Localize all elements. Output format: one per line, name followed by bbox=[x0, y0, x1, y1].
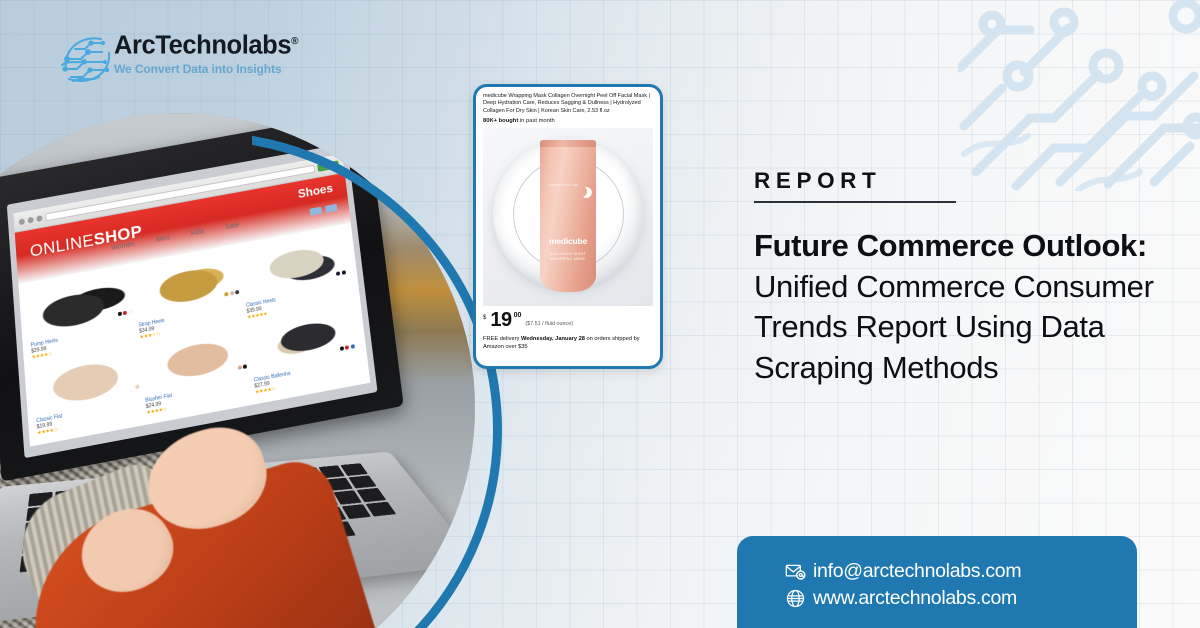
price-decimal: 00 bbox=[514, 312, 522, 319]
headline-rest: Unified Commerce Consumer Trends Report … bbox=[754, 269, 1154, 385]
report-banner: ArcTechnolabs® We Convert Data into Insi… bbox=[0, 0, 1200, 628]
brand-tagline: We Convert Data into Insights bbox=[114, 62, 304, 77]
sort-option[interactable] bbox=[325, 204, 337, 213]
shop-nav-item[interactable]: Kids bbox=[191, 228, 205, 237]
product-detail-card: medicube Wrapping Mask Collagen Overnigh… bbox=[473, 84, 663, 369]
brand-text: ArcTechnolabs® We Convert Data into Insi… bbox=[114, 27, 304, 77]
laptop-lid: ONLINESHOP Shoes Women Men Kids Sale bbox=[0, 113, 404, 482]
globe-icon bbox=[785, 588, 806, 609]
tube-micro-text: FOR NIGHT SKIN CARE bbox=[549, 184, 578, 188]
browser-forward-icon bbox=[27, 216, 33, 223]
screen-bezel: ONLINESHOP Shoes Women Men Kids Sale bbox=[7, 143, 378, 458]
laptop-screen: ONLINESHOP Shoes Women Men Kids Sale bbox=[13, 154, 370, 447]
price-integer: 19 bbox=[490, 311, 511, 330]
contact-email-row[interactable]: info@arctechnolabs.com bbox=[785, 558, 1137, 585]
eyebrow-block: REPORT bbox=[754, 168, 1134, 203]
tube-subtitle: COLLAGEN NIGHT WRAPPING MASK bbox=[540, 252, 596, 262]
eyebrow-divider bbox=[754, 201, 956, 203]
product-card-delivery: FREE delivery Wednesday, January 28 on o… bbox=[476, 330, 660, 351]
headline-bold: Future Commerce Outlook: bbox=[754, 228, 1147, 263]
circuit-trace-pattern-icon bbox=[958, 0, 1200, 191]
brand-logo[interactable]: ArcTechnolabs® We Convert Data into Insi… bbox=[57, 27, 302, 91]
shop-sort-controls[interactable] bbox=[310, 204, 338, 216]
contact-panel: info@arctechnolabs.com www.arctechnolabs… bbox=[737, 536, 1137, 628]
browser-back-icon bbox=[19, 218, 25, 225]
product-card-bought: 80K+ bought in past month bbox=[476, 115, 660, 124]
mask-tube: FOR NIGHT SKIN CARE medicube COLLAGEN NI… bbox=[540, 140, 596, 292]
contact-email-text[interactable]: info@arctechnolabs.com bbox=[813, 558, 1021, 585]
shop-nav-item[interactable]: Men bbox=[156, 234, 170, 243]
product-card-title: medicube Wrapping Mask Collagen Overnigh… bbox=[476, 87, 660, 115]
shop-category-title: Shoes bbox=[297, 181, 333, 201]
hero-photo: ONLINESHOP Shoes Women Men Kids Sale bbox=[0, 113, 475, 628]
shop-nav-item[interactable]: Sale bbox=[225, 222, 239, 231]
circuit-globe-icon bbox=[57, 29, 119, 89]
product-card-price: $1900 ($7.51 / fluid ounce) bbox=[476, 306, 660, 330]
trademark-symbol: ® bbox=[291, 36, 298, 47]
price-currency: $ bbox=[483, 315, 486, 321]
price-per-unit: ($7.51 / fluid ounce) bbox=[525, 321, 573, 327]
browser-secure-badge bbox=[317, 160, 339, 171]
eyebrow-label: REPORT bbox=[754, 168, 1134, 194]
color-swatches[interactable] bbox=[135, 384, 139, 389]
page-title: Future Commerce Outlook: Unified Commerc… bbox=[754, 226, 1166, 388]
contact-website-text[interactable]: www.arctechnolabs.com bbox=[813, 585, 1017, 612]
contact-website-row[interactable]: www.arctechnolabs.com bbox=[785, 585, 1137, 612]
brand-name: ArcTechnolabs® bbox=[114, 27, 304, 61]
tube-brand-label: medicube bbox=[540, 236, 596, 246]
product-card-image: FOR NIGHT SKIN CARE medicube COLLAGEN NI… bbox=[483, 128, 653, 306]
sort-option[interactable] bbox=[310, 207, 322, 216]
browser-reload-icon bbox=[36, 215, 42, 222]
envelope-at-icon bbox=[785, 561, 806, 582]
